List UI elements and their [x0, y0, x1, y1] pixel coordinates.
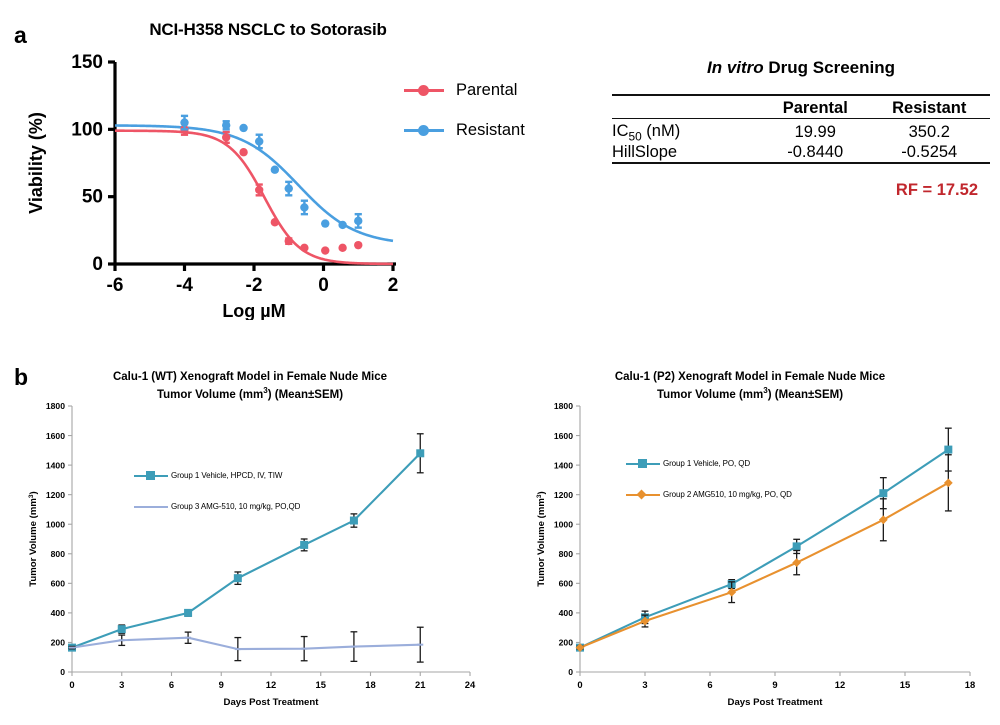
legend-label-group2: Group 2 AMG510, 10 mg/kg, PO, QD — [663, 490, 792, 499]
svg-text:0: 0 — [577, 679, 582, 690]
svg-text:6: 6 — [707, 679, 712, 690]
svg-text:6: 6 — [169, 679, 174, 690]
svg-text:1200: 1200 — [554, 490, 573, 500]
svg-text:Log µM: Log µM — [222, 301, 285, 320]
ic50-subscript: 50 — [629, 129, 642, 143]
svg-text:12: 12 — [835, 679, 845, 690]
row-label-hillslope: HillSlope — [612, 143, 762, 163]
dose-response-legend: Parental Resistant — [404, 70, 525, 150]
svg-text:1600: 1600 — [46, 431, 65, 441]
legend-item-group3: Group 3 AMG-510, 10 mg/kg, PO,QD — [134, 491, 300, 522]
dose-response-plot: 050100150-6-4-202Log µMViability (%) — [0, 0, 560, 320]
legend-label-parental: Parental — [456, 81, 517, 100]
svg-text:2: 2 — [388, 275, 399, 296]
svg-text:600: 600 — [559, 579, 574, 589]
svg-text:150: 150 — [71, 52, 103, 73]
svg-text:1000: 1000 — [46, 519, 65, 529]
ic50-units: (nM) — [642, 122, 681, 140]
legend-marker-group1-icon — [134, 471, 168, 481]
svg-text:-4: -4 — [176, 275, 193, 296]
svg-text:50: 50 — [82, 187, 103, 208]
cell-hillslope-resistant: -0.5254 — [869, 143, 991, 163]
cell-ic50-resistant: 350.2 — [869, 122, 991, 143]
resistance-factor-note: RF = 17.52 — [612, 181, 990, 200]
cell-hillslope-parental: -0.8440 — [762, 143, 869, 163]
svg-text:0: 0 — [318, 275, 329, 296]
svg-text:3: 3 — [642, 679, 647, 690]
table-header-parental: Parental — [762, 99, 869, 119]
svg-text:200: 200 — [559, 638, 574, 648]
svg-text:21: 21 — [415, 679, 425, 690]
legend-label-group1: Group 1 Vehicle, PO, QD — [663, 459, 750, 468]
svg-text:18: 18 — [965, 679, 975, 690]
xenograft-wt-legend: Group 1 Vehicle, HPCD, IV, TIW Group 3 A… — [134, 460, 300, 522]
svg-text:1400: 1400 — [554, 460, 573, 470]
svg-text:1800: 1800 — [554, 401, 573, 411]
svg-text:0: 0 — [69, 679, 74, 690]
svg-text:1200: 1200 — [46, 490, 65, 500]
svg-text:Viability (%): Viability (%) — [26, 112, 46, 214]
svg-text:200: 200 — [51, 638, 66, 648]
svg-text:400: 400 — [51, 608, 66, 618]
legend-label-group3: Group 3 AMG-510, 10 mg/kg, PO,QD — [171, 502, 300, 511]
svg-text:-2: -2 — [246, 275, 263, 296]
drug-screening-table: In vitro Drug Screening Parental Resista… — [612, 58, 990, 200]
legend-marker-resistant-icon — [404, 123, 444, 137]
xenograft-wt-chart: Calu-1 (WT) Xenograft Model in Female Nu… — [0, 360, 500, 725]
row-label-ic50: IC50 (nM) — [612, 122, 762, 143]
legend-item-group1: Group 1 Vehicle, HPCD, IV, TIW — [134, 460, 300, 491]
svg-text:24: 24 — [465, 679, 476, 690]
legend-item-parental: Parental — [404, 70, 525, 110]
svg-text:9: 9 — [219, 679, 224, 690]
cell-ic50-parental: 19.99 — [762, 122, 869, 143]
ic50-text: IC — [612, 122, 629, 140]
svg-text:Days Post Treatment: Days Post Treatment — [224, 697, 320, 708]
table-row: HillSlope -0.8440 -0.5254 — [612, 143, 990, 163]
svg-text:Tumor Volume (mm3): Tumor Volume (mm3) — [28, 491, 40, 587]
table-header-resistant: Resistant — [869, 99, 991, 119]
legend-item-group1: Group 1 Vehicle, PO, QD — [626, 448, 792, 479]
legend-label-resistant: Resistant — [456, 121, 525, 140]
xenograft-p2-plot: 0200400600800100012001400160018000369121… — [500, 360, 1000, 725]
svg-text:1600: 1600 — [554, 431, 573, 441]
svg-text:3: 3 — [119, 679, 124, 690]
legend-item-group2: Group 2 AMG510, 10 mg/kg, PO, QD — [626, 479, 792, 510]
legend-marker-group3-icon — [134, 502, 168, 512]
svg-text:9: 9 — [772, 679, 777, 690]
svg-text:100: 100 — [71, 119, 103, 140]
svg-text:0: 0 — [568, 667, 573, 677]
table-title-italic: In vitro — [707, 58, 764, 77]
svg-text:1000: 1000 — [554, 519, 573, 529]
table-title-rest: Drug Screening — [764, 58, 895, 77]
dose-response-chart: NCI-H358 NSCLC to Sotorasib 050100150-6-… — [0, 0, 560, 320]
svg-text:18: 18 — [365, 679, 375, 690]
svg-text:12: 12 — [266, 679, 276, 690]
svg-text:1800: 1800 — [46, 401, 65, 411]
legend-marker-group2-icon — [626, 490, 660, 500]
svg-text:600: 600 — [51, 579, 66, 589]
svg-text:-6: -6 — [107, 275, 124, 296]
svg-text:15: 15 — [316, 679, 326, 690]
xenograft-wt-plot: 0200400600800100012001400160018000369121… — [0, 360, 500, 725]
svg-text:800: 800 — [51, 549, 66, 559]
table-title: In vitro Drug Screening — [612, 58, 990, 78]
table-header-row: Parental Resistant — [612, 99, 990, 119]
svg-text:Days Post Treatment: Days Post Treatment — [728, 697, 824, 708]
svg-text:400: 400 — [559, 608, 574, 618]
svg-text:Tumor Volume (mm3): Tumor Volume (mm3) — [536, 491, 548, 587]
svg-text:1400: 1400 — [46, 460, 65, 470]
legend-marker-parental-icon — [404, 83, 444, 97]
xenograft-p2-legend: Group 1 Vehicle, PO, QD Group 2 AMG510, … — [626, 448, 792, 510]
legend-item-resistant: Resistant — [404, 110, 525, 150]
legend-label-group1: Group 1 Vehicle, HPCD, IV, TIW — [171, 471, 282, 480]
table-header-blank — [612, 99, 762, 119]
svg-text:15: 15 — [900, 679, 910, 690]
table-row: IC50 (nM) 19.99 350.2 — [612, 122, 990, 143]
table-rule-bottom — [612, 163, 990, 167]
xenograft-p2-chart: Calu-1 (P2) Xenograft Model in Female Nu… — [500, 360, 1000, 725]
svg-text:800: 800 — [559, 549, 574, 559]
svg-text:0: 0 — [92, 254, 103, 275]
legend-marker-group1-icon — [626, 459, 660, 469]
svg-text:0: 0 — [60, 667, 65, 677]
